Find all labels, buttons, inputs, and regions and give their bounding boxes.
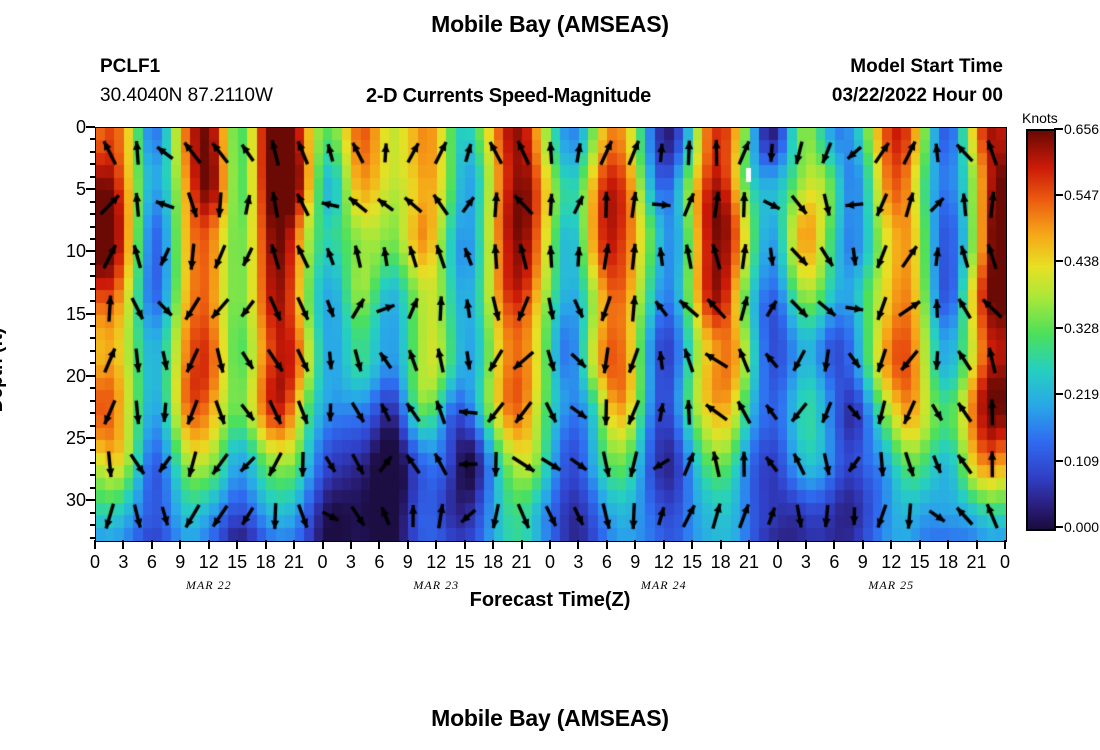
y-axis-minor-tick (90, 176, 95, 178)
colorbar (1026, 129, 1056, 531)
x-axis-tick-mark (833, 540, 835, 549)
x-axis-tick-mark (634, 540, 636, 549)
y-axis-minor-tick (90, 412, 95, 414)
colorbar-tick-label: 0.109 (1064, 454, 1099, 468)
colorbar-tick-mark (1054, 260, 1063, 262)
x-axis-tick-mark (236, 540, 238, 549)
x-axis-tick-mark (265, 540, 267, 549)
colorbar-tick-mark (1054, 128, 1063, 130)
y-axis-minor-tick (90, 449, 95, 451)
y-axis-tick-label: 5 (46, 180, 86, 198)
y-axis-minor-tick (90, 537, 95, 539)
x-axis-tick-mark (407, 540, 409, 549)
y-axis-minor-tick (90, 226, 95, 228)
x-axis-tick-mark (94, 540, 96, 549)
x-axis-tick-mark (208, 540, 210, 549)
x-axis-tick-mark (350, 540, 352, 549)
colorbar-tick-mark (1054, 393, 1063, 395)
y-axis-minor-tick (90, 425, 95, 427)
y-axis-minor-tick (90, 462, 95, 464)
x-axis-tick-mark (720, 540, 722, 549)
x-axis-tick-label: 0 (985, 553, 1025, 571)
x-axis-day-label: MAR 23 (376, 578, 496, 593)
y-axis-tick-mark (86, 313, 95, 315)
x-axis-day-label: MAR 25 (831, 578, 951, 593)
y-axis-tick-label: 10 (46, 242, 86, 260)
colorbar-tick-label: 0.328 (1064, 321, 1099, 335)
y-axis-minor-tick (90, 300, 95, 302)
y-axis-minor-tick (90, 325, 95, 327)
y-axis-tick-mark (86, 126, 95, 128)
y-axis-minor-tick (90, 512, 95, 514)
colorbar-tick-label: 0.547 (1064, 188, 1099, 202)
y-axis-minor-tick (90, 213, 95, 215)
x-axis-tick-mark (549, 540, 551, 549)
x-axis-tick-mark (492, 540, 494, 549)
y-axis-minor-tick (90, 163, 95, 165)
y-axis-minor-tick (90, 337, 95, 339)
x-axis-tick-mark (890, 540, 892, 549)
colorbar-gradient (1028, 131, 1054, 529)
y-axis-tick-mark (86, 188, 95, 190)
x-axis-tick-mark (805, 540, 807, 549)
y-axis-minor-tick (90, 350, 95, 352)
colorbar-tick-mark (1054, 460, 1063, 462)
x-axis-tick-mark (862, 540, 864, 549)
chart-subtitle: 2-D Currents Speed-Magnitude (366, 85, 651, 108)
y-axis-minor-tick (90, 288, 95, 290)
plot-area (95, 127, 1007, 542)
x-axis-day-label: MAR 24 (604, 578, 724, 593)
x-axis-tick-mark (691, 540, 693, 549)
y-axis-minor-tick (90, 487, 95, 489)
model-start-time-value: 03/22/2022 Hour 00 (832, 85, 1003, 107)
colorbar-tick-mark (1054, 327, 1063, 329)
page-title-top: Mobile Bay (AMSEAS) (0, 11, 1100, 38)
x-axis-day-label: MAR 22 (149, 578, 269, 593)
y-axis-tick-label: 15 (46, 305, 86, 323)
x-axis-tick-mark (777, 540, 779, 549)
x-axis-tick-mark (606, 540, 608, 549)
x-axis-tick-mark (976, 540, 978, 549)
x-axis-tick-mark (947, 540, 949, 549)
colorbar-tick-label: 0.000 (1064, 520, 1099, 534)
y-axis-minor-tick (90, 400, 95, 402)
y-axis-minor-tick (90, 138, 95, 140)
y-axis-minor-tick (90, 362, 95, 364)
y-axis-tick-mark (86, 437, 95, 439)
y-axis-minor-tick (90, 474, 95, 476)
y-axis-minor-tick (90, 524, 95, 526)
colorbar-units-label: Knots (1022, 110, 1058, 126)
x-axis-tick-mark (663, 540, 665, 549)
x-axis-tick-mark (748, 540, 750, 549)
x-axis-tick-mark (293, 540, 295, 549)
y-axis-tick-mark (86, 375, 95, 377)
x-axis-tick-mark (122, 540, 124, 549)
station-coords: 30.4040N 87.2110W (100, 85, 273, 107)
y-axis-minor-tick (90, 238, 95, 240)
x-axis-tick-mark (151, 540, 153, 549)
colorbar-tick-mark (1054, 194, 1063, 196)
y-axis-tick-mark (86, 499, 95, 501)
x-axis-tick-mark (378, 540, 380, 549)
x-axis-tick-mark (1004, 540, 1006, 549)
y-axis-title: Depth (ft) (0, 300, 8, 440)
page-title-bottom: Mobile Bay (AMSEAS) (0, 705, 1100, 732)
station-id: PCLF1 (100, 56, 160, 78)
y-axis-tick-mark (86, 250, 95, 252)
x-axis-tick-mark (322, 540, 324, 549)
y-axis-minor-tick (90, 201, 95, 203)
y-axis-minor-tick (90, 263, 95, 265)
y-axis-minor-tick (90, 275, 95, 277)
x-axis-tick-mark (919, 540, 921, 549)
y-axis-tick-label: 0 (46, 118, 86, 136)
y-axis-tick-label: 20 (46, 367, 86, 385)
x-axis-tick-mark (435, 540, 437, 549)
y-axis-minor-tick (90, 151, 95, 153)
x-axis-tick-mark (577, 540, 579, 549)
colorbar-tick-label: 0.219 (1064, 387, 1099, 401)
colorbar-tick-label: 0.656 (1064, 122, 1099, 136)
colorbar-tick-mark (1054, 526, 1063, 528)
x-axis-tick-mark (179, 540, 181, 549)
x-axis-tick-mark (521, 540, 523, 549)
y-axis-minor-tick (90, 387, 95, 389)
model-start-time-label: Model Start Time (850, 56, 1003, 78)
colorbar-tick-label: 0.438 (1064, 254, 1099, 268)
current-direction-quiver-overlay (96, 128, 1006, 541)
y-axis-tick-label: 25 (46, 429, 86, 447)
y-axis-tick-label: 30 (46, 491, 86, 509)
x-axis-tick-mark (464, 540, 466, 549)
